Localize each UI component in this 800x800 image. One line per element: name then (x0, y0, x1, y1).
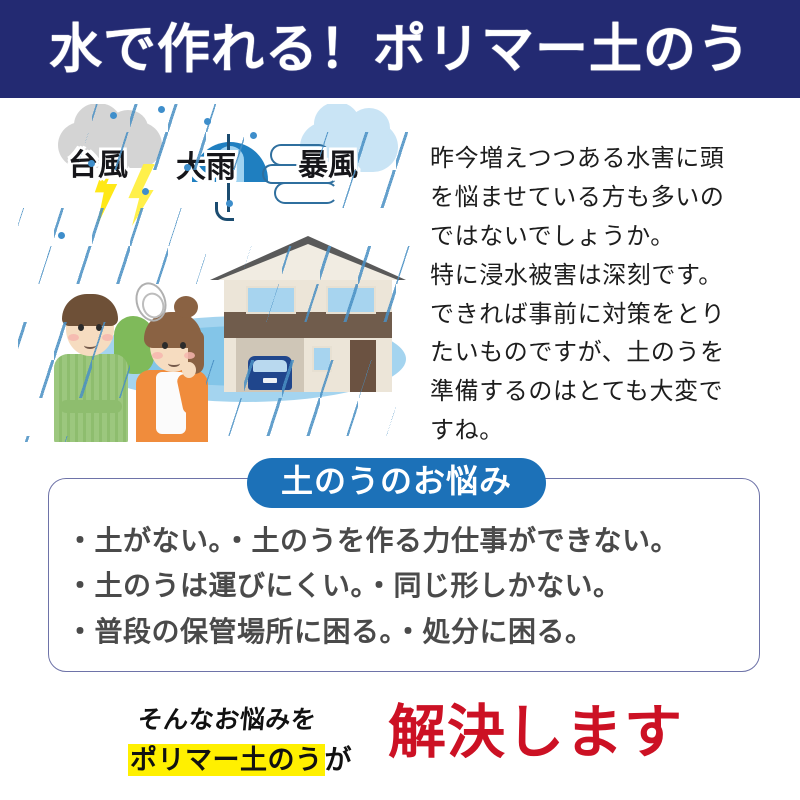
woman-cheek-right (184, 352, 195, 359)
rain-drop (226, 200, 233, 207)
conclusion-solution-text: 解決します (388, 700, 683, 767)
car-icon (248, 356, 292, 390)
weather-badge-row: 台風 大雨 暴風 (18, 104, 418, 224)
car-plate (263, 378, 277, 383)
list-item: ・普段の保管場所に困る。・処分に困る。 (66, 609, 746, 654)
rain-drop (204, 118, 211, 125)
woman-cheek-left (152, 352, 163, 359)
man-cheek-right (102, 334, 113, 341)
worries-section-heading: 土のうのお悩み (247, 458, 546, 508)
conclusion-product-line: ポリマー土のうが (128, 738, 398, 777)
house-band (224, 312, 392, 338)
wind-swirl-icon (274, 182, 338, 204)
man-shirt (54, 354, 128, 442)
body-copy-line: できれば事前に対策をとり (430, 296, 770, 335)
man-hair (62, 294, 118, 326)
roof-inner-shape (218, 244, 398, 280)
body-copy: 昨今増えつつある水害に頭 を悩ませている方も多いの ではないでしょうか。 特に浸… (430, 140, 770, 451)
conclusion-left: そんなお悩みを ポリマー土のうが (128, 700, 398, 777)
conclusion-lead-text: そんなお悩みを (126, 700, 399, 736)
page-title: 水で作れる！ポリマー土のう (49, 23, 751, 76)
body-copy-line: を悩ませている方も多いの (430, 179, 770, 218)
man-eye-left (78, 324, 84, 331)
body-copy-line: すね。 (430, 412, 770, 451)
weather-badge-label-storm-wind: 暴風 (298, 140, 358, 184)
rain-drop (110, 112, 117, 119)
rain-drop (58, 232, 65, 239)
rain-drop (88, 160, 95, 167)
conclusion-particle: が (325, 745, 353, 775)
worried-woman-figure (126, 296, 218, 442)
man-crossed-arms (60, 400, 122, 413)
body-copy-line: ではないでしょうか。 (430, 218, 770, 257)
body-copy-line: たいものですが、土のうを (430, 334, 770, 373)
body-copy-line: 特に浸水被害は深刻です。 (430, 257, 770, 296)
window-lower (312, 346, 332, 372)
man-cheek-left (68, 334, 79, 341)
house-illustration (210, 236, 406, 396)
man-mouth (84, 342, 96, 349)
worried-man-figure (46, 280, 138, 442)
body-copy-line: 準備するのはとても大変で (430, 373, 770, 412)
rain-drop (142, 188, 149, 195)
window-upper-right (326, 286, 376, 314)
man-eye-right (96, 324, 102, 331)
worries-list: ・土がない。・土のうを作る力仕事ができない。 ・土のうは運びにくい。・同じ形しか… (66, 518, 746, 654)
list-item: ・土がない。・土のうを作る力仕事ができない。 (66, 518, 746, 563)
rain-drop (250, 132, 257, 139)
front-door (350, 340, 376, 392)
rain-drop (184, 164, 191, 171)
rain-drop (158, 106, 165, 113)
window-upper-left (246, 286, 296, 314)
woman-eye-right (180, 342, 186, 349)
woman-mouth (168, 360, 180, 367)
woman-hand (182, 362, 196, 378)
conclusion-product-highlight: ポリマー土のう (128, 744, 325, 776)
lightning-bolt-icon (126, 164, 156, 226)
body-copy-line: 昨今増えつつある水害に頭 (430, 140, 770, 179)
weather-badge-label-typhoon: 台風 (68, 140, 128, 184)
woman-eye-left (162, 342, 168, 349)
woman-hair-bun (174, 296, 198, 318)
header-banner: 水で作れる！ポリマー土のう (0, 0, 800, 98)
list-item: ・土のうは運びにくい。・同じ形しかない。 (66, 563, 746, 608)
car-windshield (253, 360, 287, 372)
illustration-panel: 台風 大雨 暴風 (18, 104, 418, 442)
